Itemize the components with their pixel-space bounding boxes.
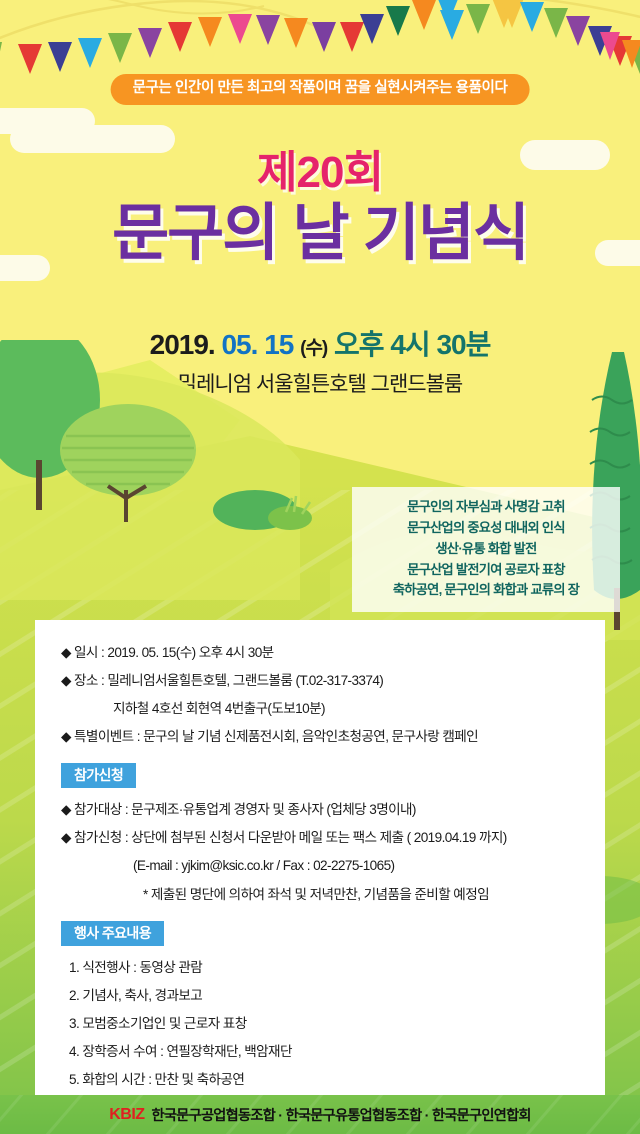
cloud-shape-4: [0, 255, 50, 281]
goal-line: 문구산업 발전기여 공로자 표창: [360, 560, 612, 581]
detail-place-row: ◆ 장소 : 밀레니엄서울힐튼호텔, 그랜드볼룸 (T.02-317-3374): [61, 670, 585, 691]
registration-apply-row: ◆ 참가신청 : 상단에 첨부된 신청서 다운받아 메일 또는 팩스 제출 ( …: [61, 827, 585, 848]
main-title: 문구의 날 기념식: [0, 200, 640, 268]
edition-title: 제20회: [0, 150, 640, 196]
event-goals-panel: 문구인의 자부심과 사명감 고취 문구산업의 중요성 대내외 인식 생산·유통 …: [352, 487, 620, 612]
goal-line: 문구인의 자부심과 사명감 고취: [360, 497, 612, 518]
bunting-flags-decoration: [0, 0, 640, 80]
registration-section-badge: 참가신청: [61, 763, 136, 788]
program-item: 3. 모범중소기업인 및 근로자 표창: [61, 1013, 585, 1034]
kbiz-logo: KBIZ: [109, 1106, 144, 1124]
program-item: 2. 기념사, 축사, 경과보고: [61, 985, 585, 1006]
program-section-badge: 행사 주요내용: [61, 921, 164, 946]
details-card: ◆ 일시 : 2019. 05. 15(수) 오후 4시 30분 ◆ 장소 : …: [35, 620, 605, 1095]
footer-organizations: 한국문구공업협동조합 · 한국문구유통업협동조합 · 한국문구인연합회: [152, 1105, 531, 1125]
title-block: 제20회 문구의 날 기념식: [0, 150, 640, 268]
cloud-shape-2: [10, 125, 175, 153]
goal-line: 생산·유통 화합 발전: [360, 539, 612, 560]
cloud-shape-5: [595, 240, 640, 266]
detail-special-event-row: ◆ 특별이벤트 : 문구의 날 기념 신제품전시회, 음악인초청공연, 문구사랑…: [61, 726, 585, 747]
goal-line: 문구산업의 중요성 대내외 인식: [360, 518, 612, 539]
detail-date-row: ◆ 일시 : 2019. 05. 15(수) 오후 4시 30분: [61, 642, 585, 663]
registration-target-row: ◆ 참가대상 : 문구제조·유통업계 경영자 및 종사자 (업체당 3명이내): [61, 799, 585, 820]
slogan-banner: 문구는 인간이 만든 최고의 작품이며 꿈을 실현시켜주는 용품이다: [111, 74, 530, 105]
program-item: 5. 화합의 시간 : 만찬 및 축하공연: [61, 1069, 585, 1090]
registration-contact-row: (E-mail : yjkim@ksic.co.kr / Fax : 02-22…: [61, 855, 585, 876]
program-item: 1. 식전행사 : 동영상 관람: [61, 957, 585, 978]
footer-bar: KBIZ 한국문구공업협동조합 · 한국문구유통업협동조합 · 한국문구인연합회: [0, 1095, 640, 1134]
detail-place-subway-row: 지하철 4호선 회현역 4번출구(도보10분): [61, 698, 585, 719]
program-item: 4. 장학증서 수여 : 연필장학재단, 백암재단: [61, 1041, 585, 1062]
goal-line: 축하공연, 문구인의 화합과 교류의 장: [360, 580, 612, 601]
registration-note-row: * 제출된 명단에 의하여 좌석 및 저녁만찬, 기념품을 준비할 예정임: [61, 884, 585, 905]
poster-root: 문구는 인간이 만든 최고의 작품이며 꿈을 실현시켜주는 용품이다 제20회 …: [0, 0, 640, 1134]
